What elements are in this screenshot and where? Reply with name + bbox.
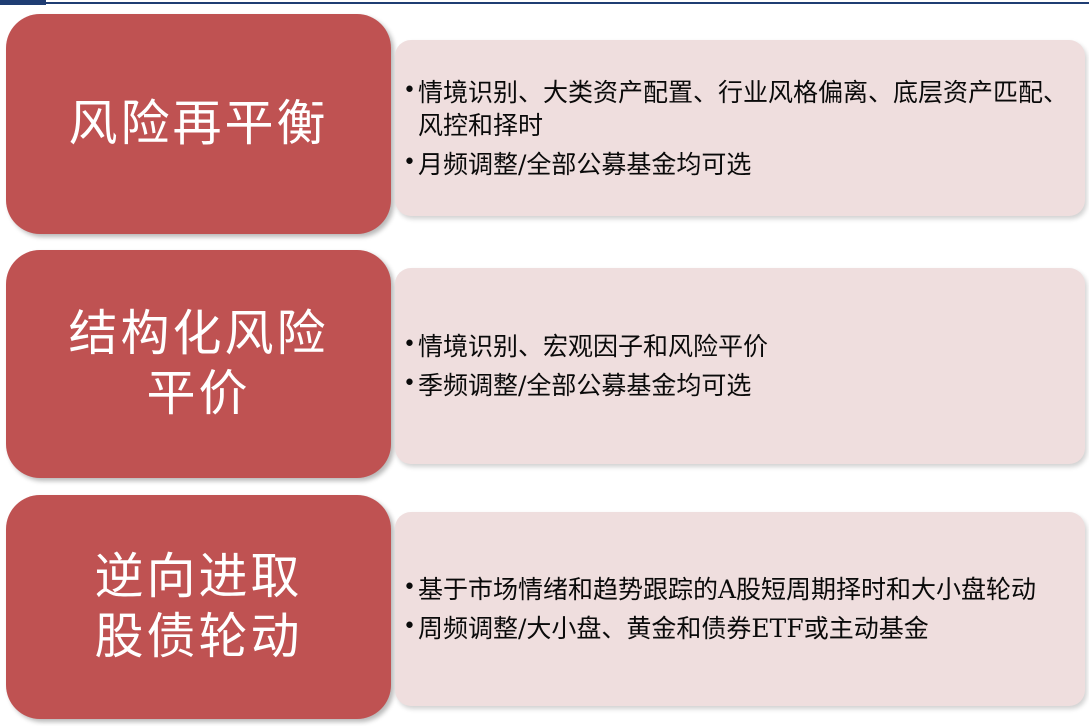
strategy-label-line: 逆向进取: [94, 547, 302, 607]
bullet-dot-icon: •: [403, 573, 417, 602]
bullet-text: 周频调整/大小盘、黄金和债券ETF或主动基金: [417, 612, 1069, 645]
bullet-dot-icon: •: [403, 612, 417, 641]
bullet-text: 基于市场情绪和趋势跟踪的A股短周期择时和大小盘轮动: [417, 573, 1069, 606]
bullet-item: • 基于市场情绪和趋势跟踪的A股短周期择时和大小盘轮动: [403, 573, 1069, 606]
strategy-row-contrarian-aggressive-rotation: 逆向进取 股债轮动 • 基于市场情绪和趋势跟踪的A股短周期择时和大小盘轮动 • …: [0, 0, 1089, 726]
strategy-detail-panel-3: • 基于市场情绪和趋势跟踪的A股短周期择时和大小盘轮动 • 周频调整/大小盘、黄…: [395, 512, 1085, 706]
strategy-label-box-3[interactable]: 逆向进取 股债轮动: [6, 495, 391, 719]
bullet-item: • 周频调整/大小盘、黄金和债券ETF或主动基金: [403, 612, 1069, 645]
strategy-label-line: 股债轮动: [94, 607, 302, 667]
